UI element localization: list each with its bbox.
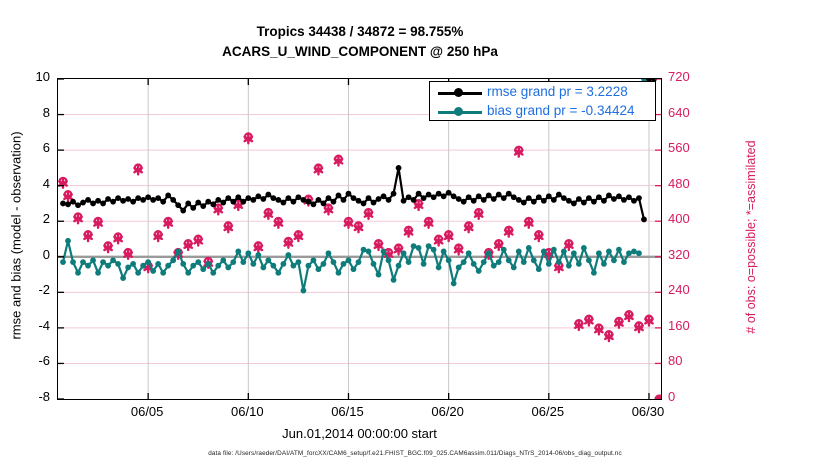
y-right-tick: 0 <box>668 389 712 404</box>
plot-area[interactable] <box>57 78 662 400</box>
y-right-tick: 240 <box>668 282 712 297</box>
y-left-tick: 8 <box>6 105 50 120</box>
chart-page: Tropics 34438 / 34872 = 98.755% ACARS_U_… <box>0 0 830 470</box>
title-line-1: Tropics 34438 / 34872 = 98.755% <box>0 22 720 42</box>
x-tick: 06/20 <box>413 404 483 419</box>
legend-item[interactable]: rmse grand pr = 3.2228 <box>430 83 655 103</box>
x-tick: 06/25 <box>513 404 583 419</box>
y-left-tick: -8 <box>6 389 50 404</box>
y-right-tick: 640 <box>668 105 712 120</box>
y-left-tick: -6 <box>6 353 50 368</box>
footer-datafile: data file: /Users/raeder/DAI/ATM_forcXX/… <box>0 450 830 457</box>
x-tick: 06/30 <box>613 404 683 419</box>
legend-label: rmse grand pr = 3.2228 <box>487 84 628 99</box>
y-left-tick: -4 <box>6 318 50 333</box>
y-left-tick: 10 <box>6 69 50 84</box>
x-tick: 06/05 <box>112 404 182 419</box>
y-right-tick: 400 <box>668 211 712 226</box>
x-tick: 06/15 <box>312 404 382 419</box>
y-axis-left-label-text: rmse and bias (model - observation) <box>9 80 24 392</box>
y-left-tick: 0 <box>6 247 50 262</box>
title-line-2: ACARS_U_WIND_COMPONENT @ 250 hPa <box>0 42 720 62</box>
x-axis-label: Jun.01,2014 00:00:00 start <box>57 426 662 441</box>
y-right-tick: 720 <box>668 69 712 84</box>
x-tick: 06/10 <box>212 404 282 419</box>
legend-label: bias grand pr = -0.34424 <box>487 103 634 118</box>
chart-title: Tropics 34438 / 34872 = 98.755% ACARS_U_… <box>0 22 720 62</box>
y-axis-right-label-text: # of obs: o=possible; *=assimilated <box>744 81 758 393</box>
legend-marker-dot-icon <box>454 107 463 116</box>
y-left-tick: -2 <box>6 282 50 297</box>
legend-box[interactable]: rmse grand pr = 3.2228bias grand pr = -0… <box>429 81 656 121</box>
y-left-tick: 4 <box>6 176 50 191</box>
y-axis-right-label: # of obs: o=possible; *=assimilated <box>741 78 761 400</box>
y-axis-left-label: rmse and bias (model - observation) <box>2 78 22 400</box>
y-right-tick: 320 <box>668 247 712 262</box>
legend-marker-dot-icon <box>454 88 463 97</box>
y-right-tick: 160 <box>668 318 712 333</box>
plot-svg <box>58 79 661 399</box>
y-right-tick: 80 <box>668 353 712 368</box>
y-left-tick: 2 <box>6 211 50 226</box>
y-right-tick: 560 <box>668 140 712 155</box>
y-right-tick: 480 <box>668 176 712 191</box>
y-left-tick: 6 <box>6 140 50 155</box>
legend-item[interactable]: bias grand pr = -0.34424 <box>430 102 655 122</box>
